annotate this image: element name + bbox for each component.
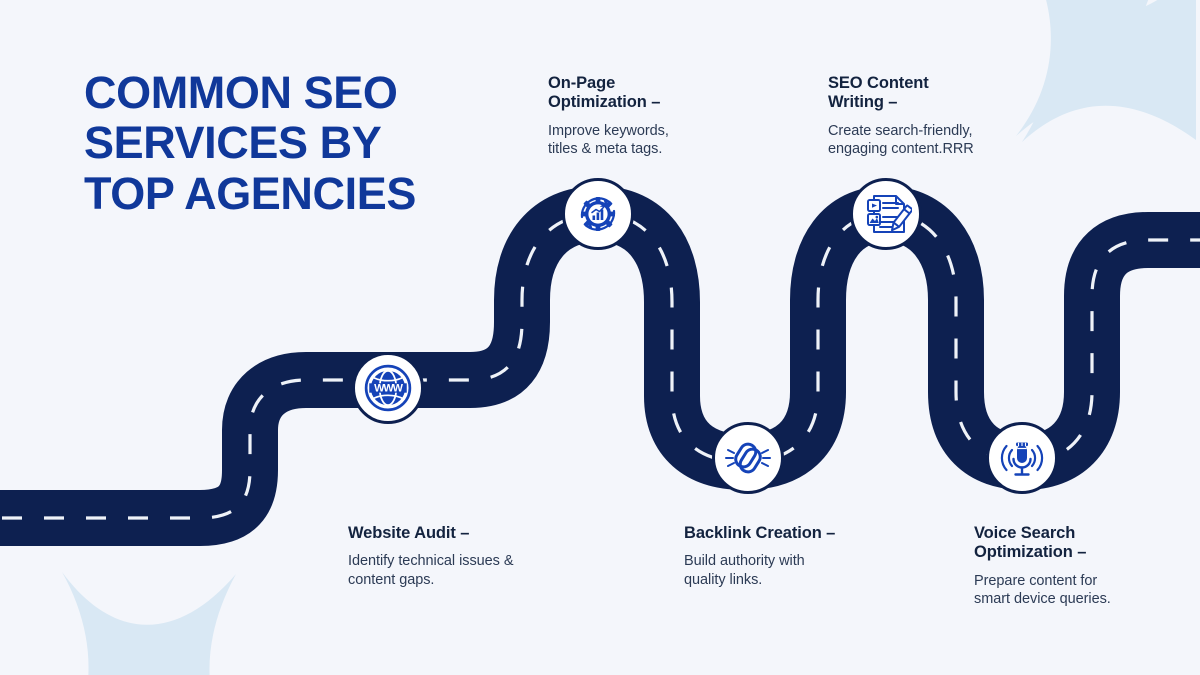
page-title-line-2: SERVICES BY (84, 118, 514, 168)
step-website-audit: Website Audit – Identify technical issue… (348, 524, 578, 590)
microphone-waves-icon (995, 431, 1049, 485)
gear-chart-refresh-icon (572, 188, 624, 240)
step-seo-content-writing-title: SEO Content Writing – (828, 74, 1038, 113)
badge-seo-content-writing[interactable] (850, 178, 922, 250)
step-seo-content-writing-description: Create search-friendly, engaging content… (828, 122, 1038, 159)
step-voice-search-optimization-title: Voice Search Optimization – (974, 524, 1189, 563)
step-voice-search-optimization: Voice Search Optimization – Prepare cont… (974, 524, 1189, 609)
step-backlink-creation-title: Backlink Creation – (684, 524, 914, 543)
document-pencil-icon (860, 188, 912, 240)
infographic-canvas: COMMON SEO SERVICES BY TOP AGENCIES WWW (0, 0, 1200, 675)
page-title: COMMON SEO SERVICES BY TOP AGENCIES (84, 68, 514, 219)
step-voice-search-optimization-description: Prepare content for smart device queries… (974, 572, 1189, 609)
badge-website-audit[interactable]: WWW (352, 352, 424, 424)
step-on-page-optimization: On-Page Optimization – Improve keywords,… (548, 74, 748, 159)
step-backlink-creation: Backlink Creation – Build authority with… (684, 524, 914, 590)
badge-voice-search-optimization[interactable] (986, 422, 1058, 494)
badge-backlink-creation[interactable] (712, 422, 784, 494)
step-website-audit-title: Website Audit – (348, 524, 578, 543)
badge-on-page-optimization[interactable] (562, 178, 634, 250)
svg-text:WWW: WWW (374, 383, 404, 395)
page-title-line-3: TOP AGENCIES (84, 169, 514, 219)
step-seo-content-writing: SEO Content Writing – Create search-frie… (828, 74, 1038, 159)
step-on-page-optimization-title: On-Page Optimization – (548, 74, 748, 113)
step-on-page-optimization-description: Improve keywords, titles & meta tags. (548, 122, 748, 159)
step-website-audit-description: Identify technical issues & content gaps… (348, 552, 578, 589)
chain-link-icon (721, 431, 775, 485)
globe-www-icon: WWW (363, 363, 413, 413)
page-title-line-1: COMMON SEO (84, 68, 514, 118)
step-backlink-creation-description: Build authority with quality links. (684, 552, 914, 589)
